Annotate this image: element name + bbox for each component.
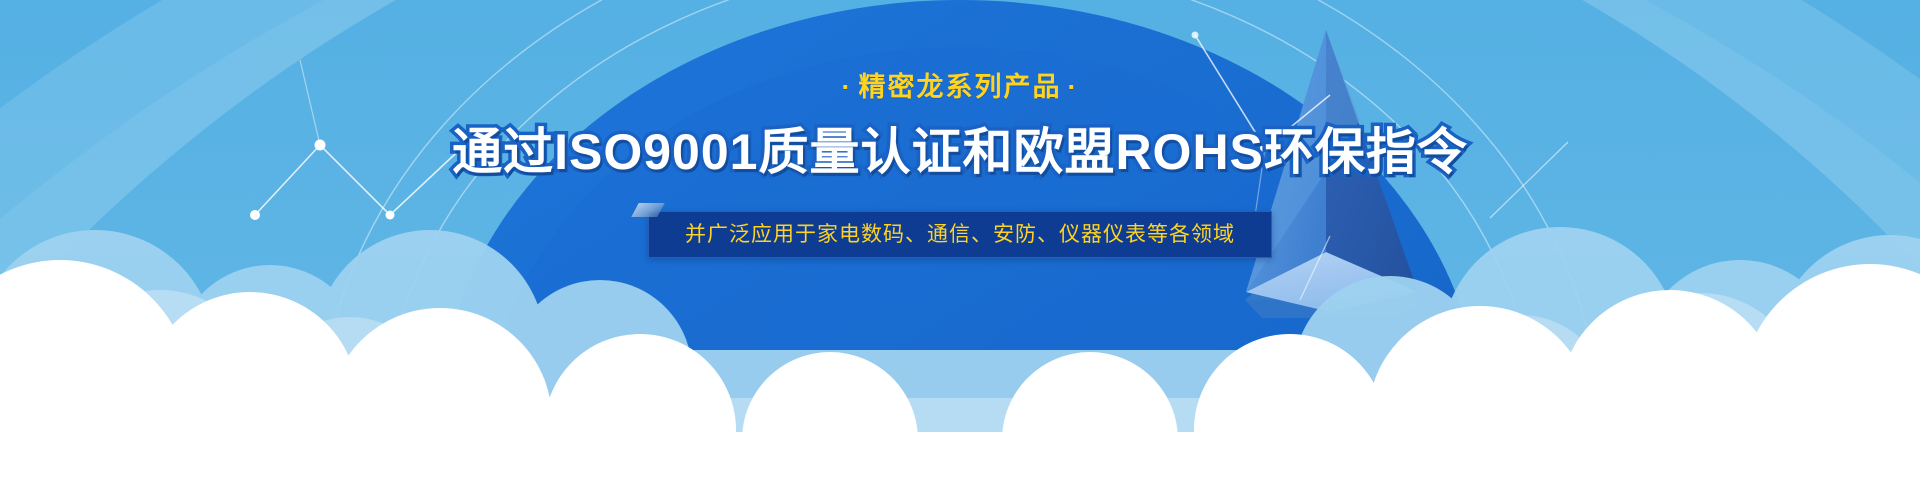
- banner-subtitle-bar: 并广泛应用于家电数码、通信、安防、仪器仪表等各领域: [648, 211, 1272, 258]
- eyebrow-trail-dot-icon: ·: [1062, 72, 1085, 102]
- banner-headline: 通过ISO9001质量认证和欧盟ROHS环保指令: [452, 127, 1468, 177]
- promo-banner: ·精密龙系列产品· 通过ISO9001质量认证和欧盟ROHS环保指令 并广泛应用…: [0, 0, 1920, 480]
- eyebrow-text: 精密龙系列产品: [859, 72, 1062, 102]
- banner-eyebrow: ·精密龙系列产品·: [836, 74, 1085, 101]
- banner-subtitle-text: 并广泛应用于家电数码、通信、安防、仪器仪表等各领域: [685, 224, 1235, 245]
- eyebrow-lead-dot-icon: ·: [836, 72, 859, 102]
